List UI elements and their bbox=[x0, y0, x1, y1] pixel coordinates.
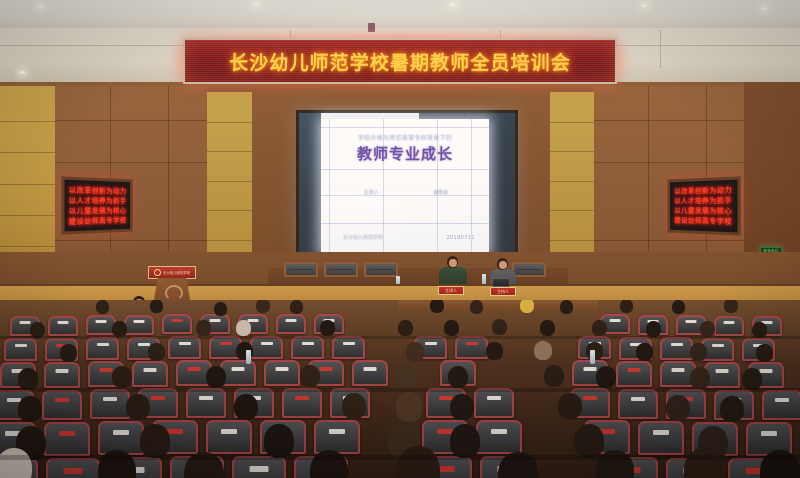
led-left-line-2: 以人才培养为抓手 bbox=[69, 195, 127, 205]
speaker-torso bbox=[439, 267, 467, 285]
audience-seat[interactable] bbox=[264, 360, 300, 386]
wood-seam bbox=[55, 240, 207, 241]
attendee-head bbox=[560, 300, 573, 314]
attendee-head bbox=[540, 320, 555, 336]
audience-seat[interactable] bbox=[132, 361, 168, 387]
audience-seat[interactable] bbox=[250, 336, 283, 359]
attendee-head bbox=[486, 342, 503, 360]
wood-seam bbox=[594, 162, 744, 163]
ceiling-downlight bbox=[760, 6, 769, 11]
attendee-head bbox=[430, 300, 444, 313]
audience-seat[interactable] bbox=[618, 389, 658, 419]
attendee-head bbox=[148, 343, 165, 361]
wood-seam bbox=[55, 162, 207, 163]
led-right-line-4: 建设幼师高专学校 bbox=[674, 216, 732, 227]
audience-seat[interactable] bbox=[44, 362, 80, 388]
audience-seat[interactable] bbox=[86, 337, 119, 360]
attendee-head bbox=[300, 365, 320, 387]
attendee-head bbox=[264, 424, 294, 458]
audience-seat[interactable] bbox=[291, 336, 324, 359]
audience-seat[interactable] bbox=[660, 337, 693, 360]
attendee-head bbox=[520, 300, 534, 313]
attendee-head bbox=[444, 320, 459, 336]
audience-seat[interactable] bbox=[476, 420, 522, 454]
ceiling-downlight bbox=[640, 3, 649, 8]
led-slogan-panel-left: 以改革创新为动力 以人才培养为抓手 以儿童发展为核心 建设幼师高专学校 bbox=[61, 176, 132, 234]
slide-date: 20190711 bbox=[446, 235, 475, 241]
attendee-head bbox=[690, 343, 707, 361]
attendee-head bbox=[398, 320, 413, 336]
attendee-head bbox=[236, 320, 251, 336]
ceiling-front-soffit bbox=[0, 0, 800, 30]
attendee-head bbox=[724, 300, 738, 313]
attendee-head bbox=[470, 300, 483, 314]
wood-seam bbox=[55, 120, 207, 121]
attendee-head bbox=[574, 424, 604, 458]
stage-chair[interactable] bbox=[364, 262, 398, 277]
attendee-head bbox=[112, 366, 132, 388]
attendee-head bbox=[534, 341, 552, 360]
laptop[interactable] bbox=[492, 278, 510, 287]
audience-seat[interactable] bbox=[638, 421, 684, 455]
water-bottle bbox=[590, 350, 595, 364]
podium-sign: 长沙幼儿师范学校 bbox=[148, 266, 196, 279]
attendee-head bbox=[720, 396, 744, 422]
attendee-head bbox=[112, 321, 127, 337]
school-emblem-icon bbox=[154, 269, 161, 276]
ceiling-downlight bbox=[18, 70, 27, 75]
banner-board: 长沙幼儿师范学校暑期教师全员培训会 bbox=[183, 38, 617, 84]
attendee-head bbox=[406, 342, 424, 362]
attendee-head bbox=[256, 300, 270, 313]
ceiling-downlight bbox=[252, 2, 261, 7]
attendee-head bbox=[448, 366, 468, 388]
audience-seat[interactable] bbox=[714, 316, 744, 336]
attendee-head bbox=[126, 394, 150, 420]
attendee-head bbox=[290, 300, 303, 314]
attendee-head bbox=[450, 394, 474, 420]
acoustic-panel-left-inner bbox=[206, 92, 252, 277]
podium-logo-icon bbox=[165, 285, 183, 301]
attendee-head bbox=[646, 321, 661, 337]
attendee-head bbox=[742, 368, 762, 390]
audience-seat[interactable] bbox=[206, 420, 252, 454]
audience-seat[interactable] bbox=[168, 336, 201, 359]
ceiling-seam bbox=[660, 30, 661, 68]
stage-chair[interactable] bbox=[284, 262, 318, 277]
audience-seat[interactable] bbox=[124, 315, 154, 335]
nameplate-speaker: 主讲人 bbox=[438, 286, 464, 295]
attendee-head bbox=[690, 367, 710, 389]
projection-screen: 学校升格为师范高等专科背景下的 教师专业成长 主讲人： 湖南省 长沙幼儿师范学校… bbox=[296, 110, 518, 256]
audience-seat[interactable] bbox=[276, 314, 306, 334]
slide-subtitle: 学校升格为师范高等专科背景下的 bbox=[339, 133, 471, 142]
attendee-head bbox=[214, 302, 227, 316]
podium-sign-text: 长沙幼儿师范学校 bbox=[163, 270, 190, 275]
led-slogan-panel-right: 以改革创新为动力 以人才培养为抓手 以儿童发展为核心 建设幼师高专学校 bbox=[667, 176, 740, 235]
audience-seat[interactable] bbox=[762, 390, 800, 420]
ceiling-sensor bbox=[368, 23, 375, 32]
attendee-head bbox=[558, 393, 582, 419]
auditorium-photo: 长沙幼儿师范学校暑期教师全员培训会 学校升格为师范高等专科背景下的 教师专业成长… bbox=[0, 0, 800, 478]
attendee-head bbox=[492, 319, 507, 335]
attendee-head bbox=[596, 366, 616, 388]
led-left-line-4: 建设幼师高专学校 bbox=[69, 215, 127, 226]
led-right-line-2: 以人才培养为抓手 bbox=[674, 196, 732, 206]
host-head bbox=[497, 258, 508, 270]
audience-seat[interactable] bbox=[474, 388, 514, 418]
audience-seat[interactable] bbox=[42, 390, 82, 420]
attendee-head bbox=[592, 320, 607, 336]
slide-title: 教师专业成长 bbox=[331, 143, 479, 164]
attendee-head bbox=[396, 364, 417, 388]
attendee-head bbox=[700, 321, 715, 337]
attendee-head bbox=[18, 368, 38, 390]
attendee-head bbox=[320, 320, 335, 336]
slide-presenter-line: 主讲人： 湖南省 bbox=[339, 189, 473, 196]
audience-seat[interactable] bbox=[352, 360, 388, 386]
attendee-head bbox=[96, 300, 109, 314]
stage-chair[interactable] bbox=[324, 262, 358, 277]
audience-seat[interactable] bbox=[44, 422, 90, 456]
audience-seat[interactable] bbox=[162, 314, 192, 334]
audience-seat[interactable] bbox=[314, 420, 360, 454]
nameplate-host: 主持人 bbox=[490, 287, 516, 296]
water-bottle bbox=[246, 350, 251, 364]
attendee-head bbox=[140, 424, 170, 458]
attendee-head bbox=[60, 344, 77, 362]
acoustic-panel-right-inner bbox=[548, 92, 594, 277]
attendee-head bbox=[666, 395, 690, 421]
wood-seam bbox=[594, 120, 744, 121]
audience-seat[interactable] bbox=[332, 336, 365, 359]
banner-title-text: 长沙幼儿师范学校暑期教师全员培训会 bbox=[229, 48, 571, 75]
audience-seat[interactable] bbox=[616, 361, 652, 387]
audience-seat[interactable] bbox=[282, 388, 322, 418]
audience-seat[interactable] bbox=[46, 458, 100, 478]
attendee-head bbox=[396, 392, 422, 422]
ceiling-downlight bbox=[36, 4, 45, 9]
attendee-head bbox=[636, 343, 653, 361]
main-led-banner: 长沙幼儿师范学校暑期教师全员培训会 bbox=[183, 38, 617, 84]
audience-seat[interactable] bbox=[4, 338, 37, 361]
presentation-slide: 学校升格为师范高等专科背景下的 教师专业成长 主讲人： 湖南省 长沙幼儿师范学校… bbox=[321, 119, 489, 253]
attendee-head bbox=[342, 393, 366, 419]
attendee-head bbox=[672, 300, 685, 314]
wood-seam bbox=[594, 240, 744, 241]
attendee-head bbox=[234, 394, 258, 420]
audience-area bbox=[0, 300, 800, 478]
speaker-head bbox=[447, 256, 458, 268]
slide-presenter-right: 湖南省 bbox=[433, 189, 448, 196]
attendee-head bbox=[620, 300, 633, 313]
attendee-head bbox=[206, 366, 226, 388]
audience-seat[interactable] bbox=[48, 316, 78, 336]
attendee-head bbox=[756, 344, 773, 362]
slide-footer: 长沙幼儿师范学校 bbox=[343, 234, 383, 241]
ceiling-downlight bbox=[448, 2, 457, 7]
slide-presenter-left: 主讲人： bbox=[364, 189, 384, 196]
audience-seat[interactable] bbox=[186, 388, 226, 418]
attendee-head bbox=[450, 424, 480, 458]
attendee-head bbox=[544, 365, 564, 387]
attendee-head bbox=[18, 396, 42, 422]
audience-seat[interactable] bbox=[90, 389, 130, 419]
attendee-head bbox=[150, 300, 163, 313]
audience-seat[interactable] bbox=[455, 336, 488, 359]
attendee-head bbox=[196, 320, 211, 336]
